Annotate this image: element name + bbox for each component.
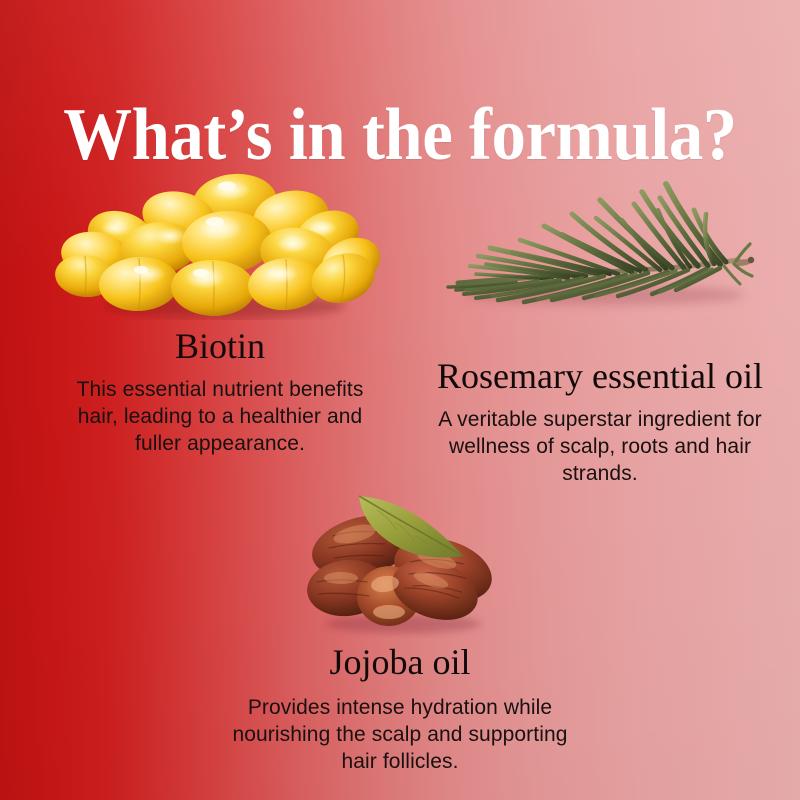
biotin-softgel-capsules-photo xyxy=(55,170,385,320)
ingredient-description-rosemary: A veritable superstar ingredient for wel… xyxy=(400,406,800,487)
ingredient-name-jojoba: Jojoba oil xyxy=(200,642,600,682)
ingredient-name-biotin: Biotin xyxy=(20,326,420,366)
ingredient-card-biotin: Biotin This essential nutrient benefits … xyxy=(20,170,420,457)
ingredient-name-rosemary: Rosemary essential oil xyxy=(400,356,800,396)
ingredient-card-rosemary: Rosemary essential oil A veritable super… xyxy=(400,148,800,487)
rosemary-sprig-photo xyxy=(420,148,780,328)
ingredient-description-biotin: This essential nutrient benefits hair, l… xyxy=(20,376,420,457)
ingredient-description-jojoba: Provides intense hydration while nourish… xyxy=(200,694,600,775)
ingredient-card-jojoba: Jojoba oil Provides intense hydration wh… xyxy=(200,478,600,775)
jojoba-seeds-with-leaf-photo xyxy=(285,478,515,638)
formula-ingredients-poster: What’s in the formula? xyxy=(0,0,800,800)
